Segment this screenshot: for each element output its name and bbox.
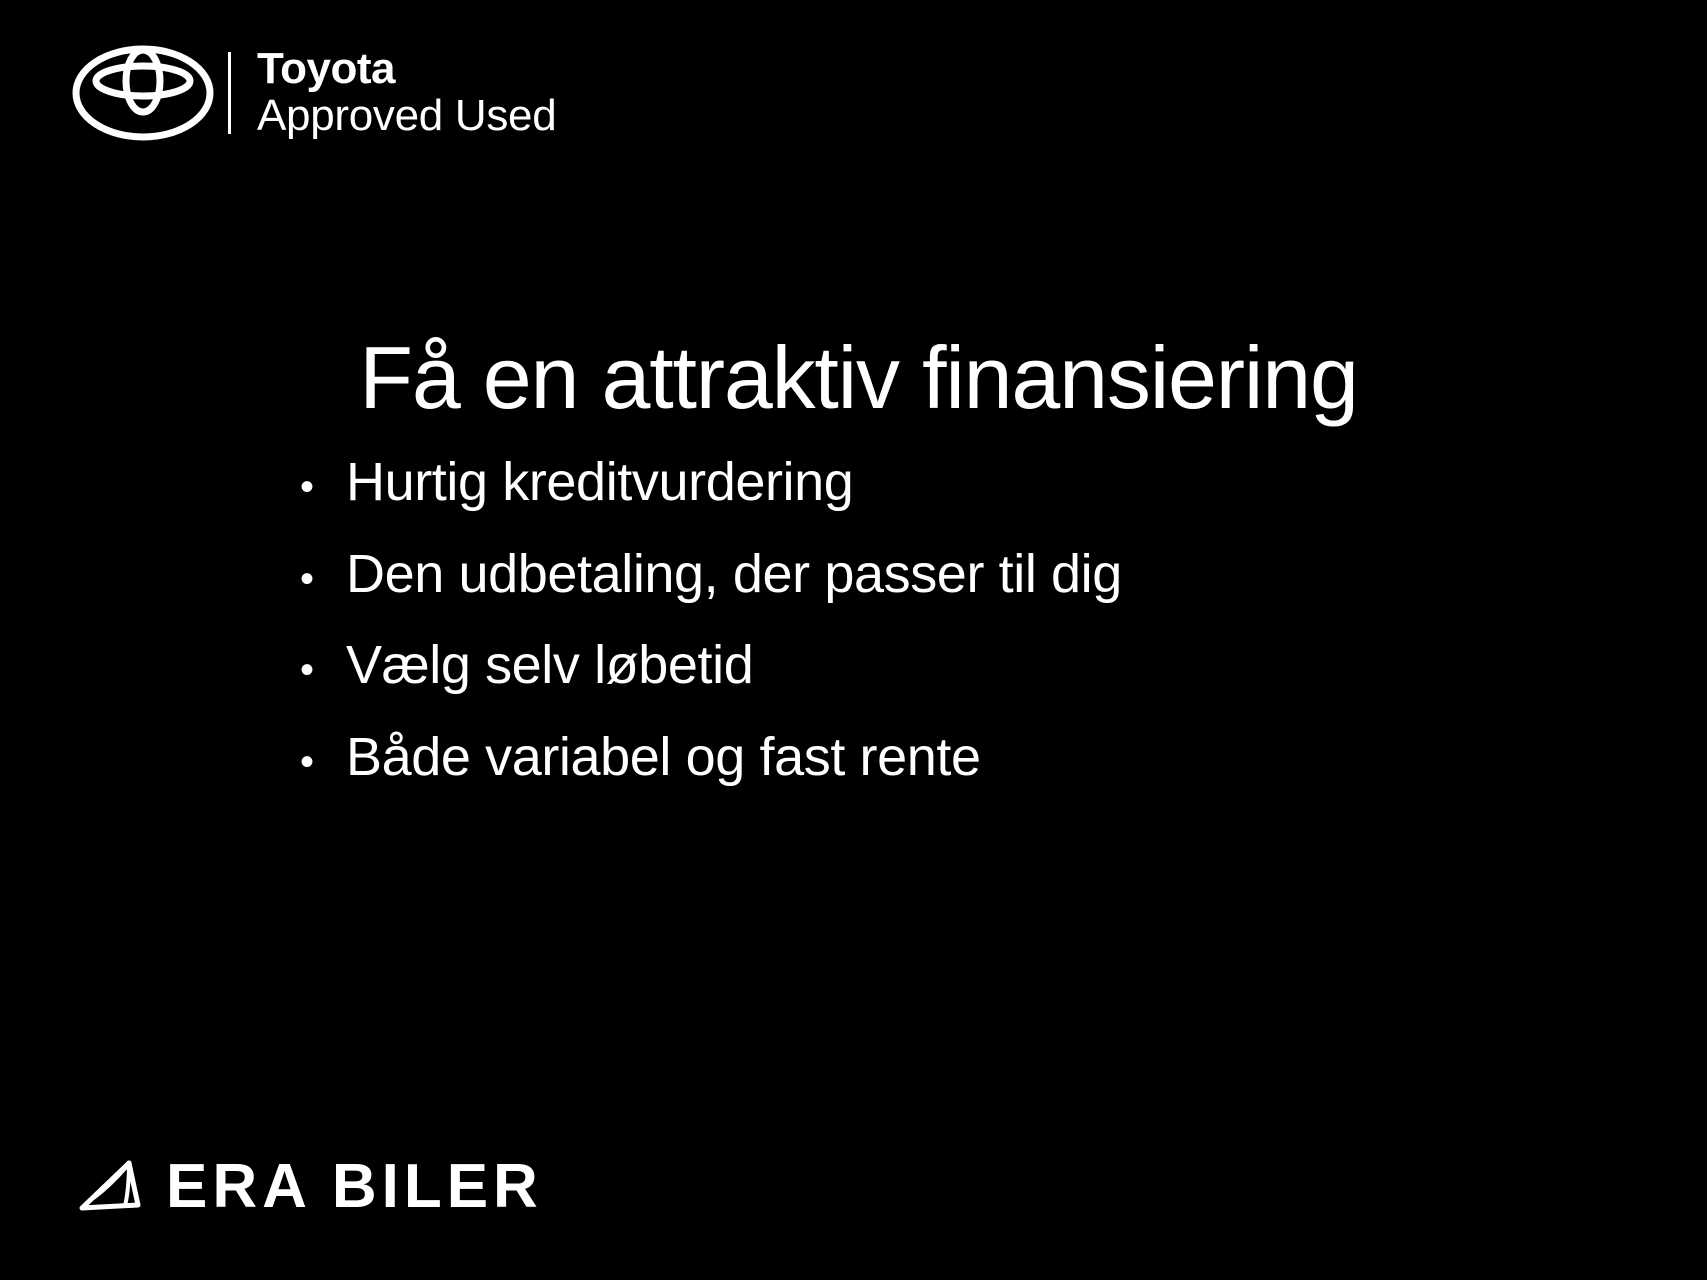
- list-item-label: Den udbetaling, der passer til dig: [346, 543, 1122, 607]
- brand-name: Toyota: [257, 46, 556, 93]
- toyota-emblem-icon: [72, 44, 214, 142]
- list-item: • Både variabel og fast rente: [300, 726, 1330, 790]
- list-item: • Hurtig kreditvurdering: [300, 451, 1330, 515]
- bullet-dot-icon: •: [300, 742, 346, 782]
- list-item-label: Både variabel og fast rente: [346, 726, 981, 790]
- brand-divider: [228, 52, 231, 134]
- bullet-dot-icon: •: [300, 650, 346, 690]
- dealer-name: ERA BILER: [166, 1151, 543, 1222]
- list-item: • Vælg selv løbetid: [300, 634, 1330, 698]
- era-biler-triangle-icon: [72, 1150, 144, 1222]
- page-title: Få en attraktiv finansiering: [0, 330, 1707, 425]
- list-item: • Den udbetaling, der passer til dig: [300, 543, 1330, 607]
- slide-canvas: Toyota Approved Used Få en attraktiv fin…: [0, 0, 1707, 1280]
- brand-text-block: Toyota Approved Used: [257, 46, 556, 139]
- dealer-logo: ERA BILER: [72, 1150, 543, 1222]
- benefits-list: • Hurtig kreditvurdering • Den udbetalin…: [300, 451, 1330, 790]
- list-item-label: Hurtig kreditvurdering: [346, 451, 853, 515]
- brand-program: Approved Used: [257, 93, 556, 140]
- bullet-dot-icon: •: [300, 467, 346, 507]
- list-item-label: Vælg selv løbetid: [346, 634, 753, 698]
- toyota-brand-lockup: Toyota Approved Used: [72, 44, 556, 142]
- bullet-dot-icon: •: [300, 559, 346, 599]
- slide-content: Få en attraktiv finansiering • Hurtig kr…: [0, 330, 1707, 818]
